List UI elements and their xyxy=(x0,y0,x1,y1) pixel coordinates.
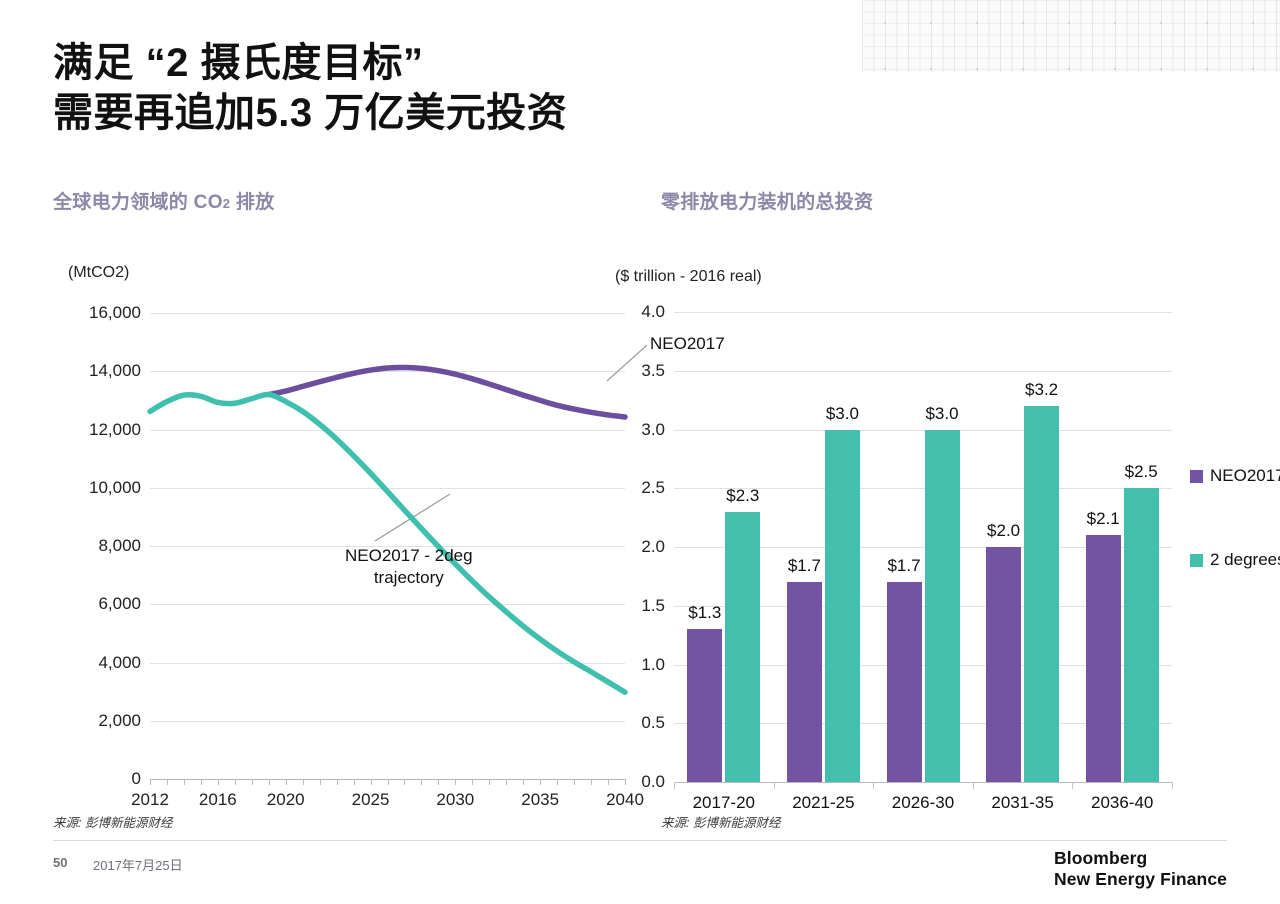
line-chart-x-tickmark xyxy=(320,779,321,785)
page-title: 满足 “2 摄氏度目标” 需要再追加5.3 万亿美元投资 xyxy=(53,38,813,138)
bloomberg-new-energy-finance-logo: Bloomberg New Energy Finance xyxy=(1054,848,1227,890)
bar-value-label: $1.7 xyxy=(887,556,920,576)
bar-value-label: $3.0 xyxy=(826,404,859,424)
legend-label: 2 degrees xyxy=(1210,550,1280,570)
line-chart-x-tickmark xyxy=(286,779,287,785)
line-chart-y-tick-label: 4,000 xyxy=(98,653,141,673)
right-chart-subtitle: 零排放电力装机的总投资 xyxy=(661,187,873,214)
bar-value-label: $2.0 xyxy=(987,521,1020,541)
left-chart-subtitle-prefix: 全球电力领域的 CO xyxy=(53,192,223,213)
page-number: 50 xyxy=(53,855,67,870)
legend-label: NEO2017 xyxy=(1210,466,1280,486)
bar-chart-y-tick-label: 0.5 xyxy=(641,713,665,733)
right-chart-panel: ($ trillion - 2016 real) 0.00.51.01.52.0… xyxy=(610,250,1275,795)
bar-chart-category-label: 2021-25 xyxy=(792,793,854,813)
slide: 满足 “2 摄氏度目标” 需要再追加5.3 万亿美元投资 全球电力领域的 CO2… xyxy=(0,0,1280,904)
bar-neo2017 xyxy=(887,582,922,782)
line-chart-x-tickmark xyxy=(574,779,575,785)
line-chart-x-tickmark xyxy=(150,779,151,785)
bar-value-label: $1.3 xyxy=(688,603,721,623)
bar-chart-category-label: 2026-30 xyxy=(892,793,954,813)
line-chart-x-tickmark xyxy=(438,779,439,785)
line-chart-x-tickmark xyxy=(472,779,473,785)
line-chart-x-tickmark xyxy=(371,779,372,785)
logo-line-nef: New Energy Finance xyxy=(1054,869,1227,890)
bar-chart-category-separator xyxy=(1172,782,1173,789)
left-chart-panel: (MtCO2) 02,0004,0006,0008,00010,00012,00… xyxy=(40,250,620,795)
bar-neo2017 xyxy=(687,629,722,782)
bar-value-label: $1.7 xyxy=(788,556,821,576)
bar-two-degrees xyxy=(725,512,760,782)
line-chart-y-tick-label: 10,000 xyxy=(89,478,141,498)
line-chart-x-tickmark xyxy=(201,779,202,785)
line-chart-y-tick-label: 16,000 xyxy=(89,303,141,323)
bar-neo2017 xyxy=(1086,535,1121,782)
bar-chart-y-tick-label: 0.0 xyxy=(641,772,665,792)
bar-chart-y-tick-label: 4.0 xyxy=(641,302,665,322)
line-chart-x-tickmark xyxy=(608,779,609,785)
line-chart-series-annotation: NEO2017 - 2deg trajectory xyxy=(345,545,473,589)
bar-chart-y-tick-label: 1.0 xyxy=(641,655,665,675)
line-chart-x-tickmark xyxy=(506,779,507,785)
bar-neo2017 xyxy=(787,582,822,782)
line-chart-x-tickmark xyxy=(184,779,185,785)
line-chart-plot-area: 02,0004,0006,0008,00010,00012,00014,0001… xyxy=(150,313,625,779)
bar-chart-category-separator xyxy=(674,782,675,789)
line-chart-x-tickmark xyxy=(404,779,405,785)
bar-chart-gridline xyxy=(674,312,1172,313)
right-chart-unit-label: ($ trillion - 2016 real) xyxy=(615,268,762,286)
line-chart-x-tick-label: 2012 xyxy=(131,790,169,810)
line-chart-y-tick-label: 14,000 xyxy=(89,361,141,381)
line-chart-x-tickmark xyxy=(591,779,592,785)
left-source-note: 来源: 彭博新能源财经 xyxy=(53,812,172,831)
bar-chart-y-tick-label: 3.0 xyxy=(641,420,665,440)
line-chart-y-tick-label: 2,000 xyxy=(98,711,141,731)
line-chart-x-tick-label: 2035 xyxy=(521,790,559,810)
bar-chart-category-separator xyxy=(973,782,974,789)
line-chart-x-tickmark xyxy=(354,779,355,785)
bar-chart-y-tick-label: 2.0 xyxy=(641,537,665,557)
bar-chart-category-label: 2031-35 xyxy=(991,793,1053,813)
footer-divider xyxy=(53,840,1227,841)
line-chart-x-tickmark xyxy=(388,779,389,785)
line-chart-y-tick-label: 12,000 xyxy=(89,420,141,440)
line-chart-x-tick-label: 2016 xyxy=(199,790,237,810)
bar-value-label: $3.2 xyxy=(1025,380,1058,400)
line-chart-x-tickmark xyxy=(167,779,168,785)
line-chart-x-tick-label: 2020 xyxy=(267,790,305,810)
line-chart-x-tick-label: 2030 xyxy=(436,790,474,810)
legend-item-two-degrees[interactable]: 2 degrees xyxy=(1190,550,1280,570)
logo-line-bloomberg: Bloomberg xyxy=(1054,848,1227,869)
line-chart-x-tickmark xyxy=(303,779,304,785)
line-chart-x-tickmark xyxy=(540,779,541,785)
bar-chart-y-tick-label: 2.5 xyxy=(641,478,665,498)
legend-swatch-icon xyxy=(1190,470,1203,483)
bar-two-degrees xyxy=(1024,406,1059,782)
line-chart-x-tickmark xyxy=(269,779,270,785)
bar-two-degrees xyxy=(925,430,960,783)
bar-value-label: $2.5 xyxy=(1125,462,1158,482)
bar-chart-category-label: 2036-40 xyxy=(1091,793,1153,813)
line-chart-x-tickmark xyxy=(218,779,219,785)
line-chart-x-tickmark xyxy=(455,779,456,785)
bar-chart-gridline xyxy=(674,371,1172,372)
bar-value-label: $3.0 xyxy=(925,404,958,424)
bar-chart-y-tick-label: 1.5 xyxy=(641,596,665,616)
bar-value-label: $2.3 xyxy=(726,486,759,506)
bar-neo2017 xyxy=(986,547,1021,782)
bar-chart-plot-area: 0.00.51.01.52.02.53.03.54.0$1.3$2.32017-… xyxy=(674,312,1172,782)
bar-chart-category-separator xyxy=(774,782,775,789)
line-chart-x-tickmark xyxy=(557,779,558,785)
left-chart-subtitle: 全球电力领域的 CO2 排放 xyxy=(53,187,275,214)
line-chart-x-tickmark xyxy=(337,779,338,785)
bar-chart-y-tick-label: 3.5 xyxy=(641,361,665,381)
right-source-note: 来源: 彭博新能源财经 xyxy=(661,812,780,831)
bar-value-label: $2.1 xyxy=(1087,509,1120,529)
bar-two-degrees xyxy=(825,430,860,783)
left-chart-unit-label: (MtCO2) xyxy=(68,264,129,282)
page-date: 2017年7月25日 xyxy=(93,855,183,874)
bar-two-degrees xyxy=(1124,488,1159,782)
line-chart-x-tickmark xyxy=(421,779,422,785)
bar-chart-category-label: 2017-20 xyxy=(693,793,755,813)
left-chart-subtitle-suffix: 排放 xyxy=(230,192,274,213)
line-chart-x-tickmark xyxy=(523,779,524,785)
legend-swatch-icon xyxy=(1190,554,1203,567)
line-chart-x-tickmark xyxy=(489,779,490,785)
line-chart-y-tick-label: 8,000 xyxy=(98,536,141,556)
bar-chart-category-separator xyxy=(1072,782,1073,789)
decorative-dot-pattern xyxy=(862,0,1280,72)
bar-chart-gridline xyxy=(674,782,1172,783)
legend-item-neo2017[interactable]: NEO2017 xyxy=(1190,466,1280,486)
line-chart-x-tickmark xyxy=(252,779,253,785)
bar-chart-category-separator xyxy=(873,782,874,789)
line-chart-y-tick-label: 6,000 xyxy=(98,594,141,614)
line-chart-x-tick-label: 2025 xyxy=(352,790,390,810)
bar-chart-gridline xyxy=(674,430,1172,431)
line-chart-x-tickmark xyxy=(235,779,236,785)
line-chart-y-tick-label: 0 xyxy=(132,769,141,789)
